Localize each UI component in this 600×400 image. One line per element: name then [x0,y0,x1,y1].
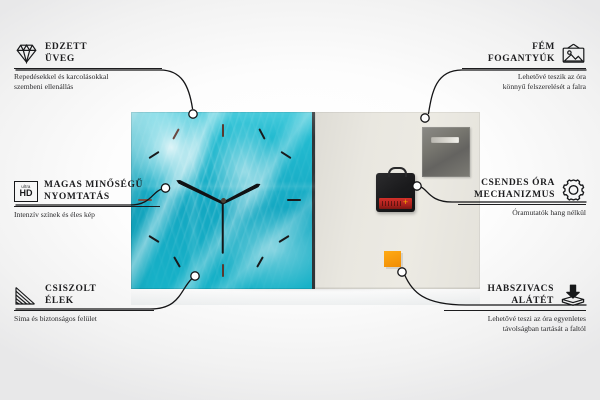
hour-tick-8 [148,235,159,243]
callout-title-line1: MAGAS MINŐSÉGŰ [44,180,143,190]
hour-tick-12 [222,124,224,137]
callout-title-line1: CSISZOLT [45,284,96,294]
callout-title-line1: CSENDES ÓRA [481,178,555,188]
quartz-clock-mechanism: + [376,173,415,212]
battery-plus-symbol: + [402,199,409,206]
callout-title-line2: NYOMTATÁS [44,192,110,202]
ultra-hd-large-label: HD [20,189,33,198]
metal-hanger-bracket [422,127,470,177]
callout-title: FÉMFOGANTYÚK [488,42,555,65]
hour-tick-7 [174,256,182,267]
callout-description: Sima és biztonságos felület [14,314,154,324]
callout-foam-pad: HABSZIVACSALÁTÉT Lehetővé teszi az óra e… [444,284,586,333]
callout-title: CSISZOLTÉLEK [45,284,96,307]
hour-tick-3 [287,199,301,201]
callout-polished-edges: CSISZOLTÉLEK Sima és biztonságos felület [14,284,154,324]
callout-title-line1: HABSZIVACS [487,284,554,294]
callout-divider [458,204,586,205]
callout-title-line2: FOGANTYÚK [488,54,555,64]
ultra-hd-badge-icon: ultra HD [14,181,38,202]
callout-silent-clock: CSENDES ÓRAMECHANIZMUS Óramutatók hang n… [458,178,586,218]
clock-minute-hand [175,178,224,205]
callout-head: FÉMFOGANTYÚK [462,42,586,65]
arrow-onto-pad-icon [560,284,586,307]
clock-rear-pane: + [315,112,480,289]
clock-second-hand [222,201,224,253]
hour-tick-10 [148,151,159,159]
callout-tempered-glass: EDZETTÜVEG Repedésekkel és karcolásokkal… [14,42,162,91]
hour-tick-4 [279,235,290,243]
callout-description: Lehetővé teszik az óra könnyű felszerelé… [462,72,586,91]
callout-title: MAGAS MINŐSÉGŰNYOMTATÁS [44,180,143,203]
callout-description: Lehetővé teszi az óra egyenletes távolsá… [444,314,586,333]
hour-tick-11 [172,129,180,140]
callout-head: EDZETTÜVEG [14,42,162,65]
product-reflection [131,289,480,305]
callout-divider [14,68,162,69]
infographic-canvas: + [0,0,600,400]
callout-divider [444,310,586,311]
foam-spacer-pad [384,251,401,267]
callout-description: Repedésekkel és karcolásokkal szembeni e… [14,72,162,91]
callout-title: HABSZIVACSALÁTÉT [487,284,554,307]
diamond-icon [14,43,39,64]
callout-description: Óramutatók hang nélkül [458,208,586,218]
callout-divider [462,68,586,69]
clock-hour-hand [222,182,261,205]
callout-title-line2: ÜVEG [45,54,75,64]
hour-tick-5 [256,256,264,267]
hour-tick-2 [280,151,291,159]
callout-title-line1: FÉM [532,42,555,52]
callout-title-line2: ÉLEK [45,296,74,306]
aa-battery: + [379,198,412,209]
callout-description: Intenzív színek és éles kép [14,210,160,220]
metal-hanger-slot [431,137,459,143]
callout-title-line2: ALÁTÉT [511,296,554,306]
battery-label-stripes [382,201,402,206]
callout-divider [14,206,160,207]
callout-metal-handles: FÉMFOGANTYÚK Lehetővé teszik az óra könn… [462,42,586,91]
hour-tick-6 [222,264,224,277]
callout-hd-print: ultra HD MAGAS MINŐSÉGŰNYOMTATÁS Intenzí… [14,180,160,220]
callout-title-line1: EDZETT [45,42,87,52]
callout-title-line2: MECHANIZMUS [474,190,555,200]
callout-divider [14,310,154,311]
callout-title: EDZETTÜVEG [45,42,87,65]
mechanism-hanging-loop [388,167,407,177]
hour-tick-1 [258,128,265,140]
callout-head: CSENDES ÓRAMECHANIZMUS [458,178,586,201]
clock-center-cap [221,198,226,203]
diagonal-lines-icon [14,285,39,306]
product-image-wall-clock: + [131,112,480,289]
picture-frame-icon [561,43,586,64]
gear-icon [561,178,586,201]
callout-head: HABSZIVACSALÁTÉT [444,284,586,307]
callout-head: ultra HD MAGAS MINŐSÉGŰNYOMTATÁS [14,180,160,203]
callout-head: CSISZOLTÉLEK [14,284,154,307]
callout-title: CSENDES ÓRAMECHANIZMUS [474,178,555,201]
